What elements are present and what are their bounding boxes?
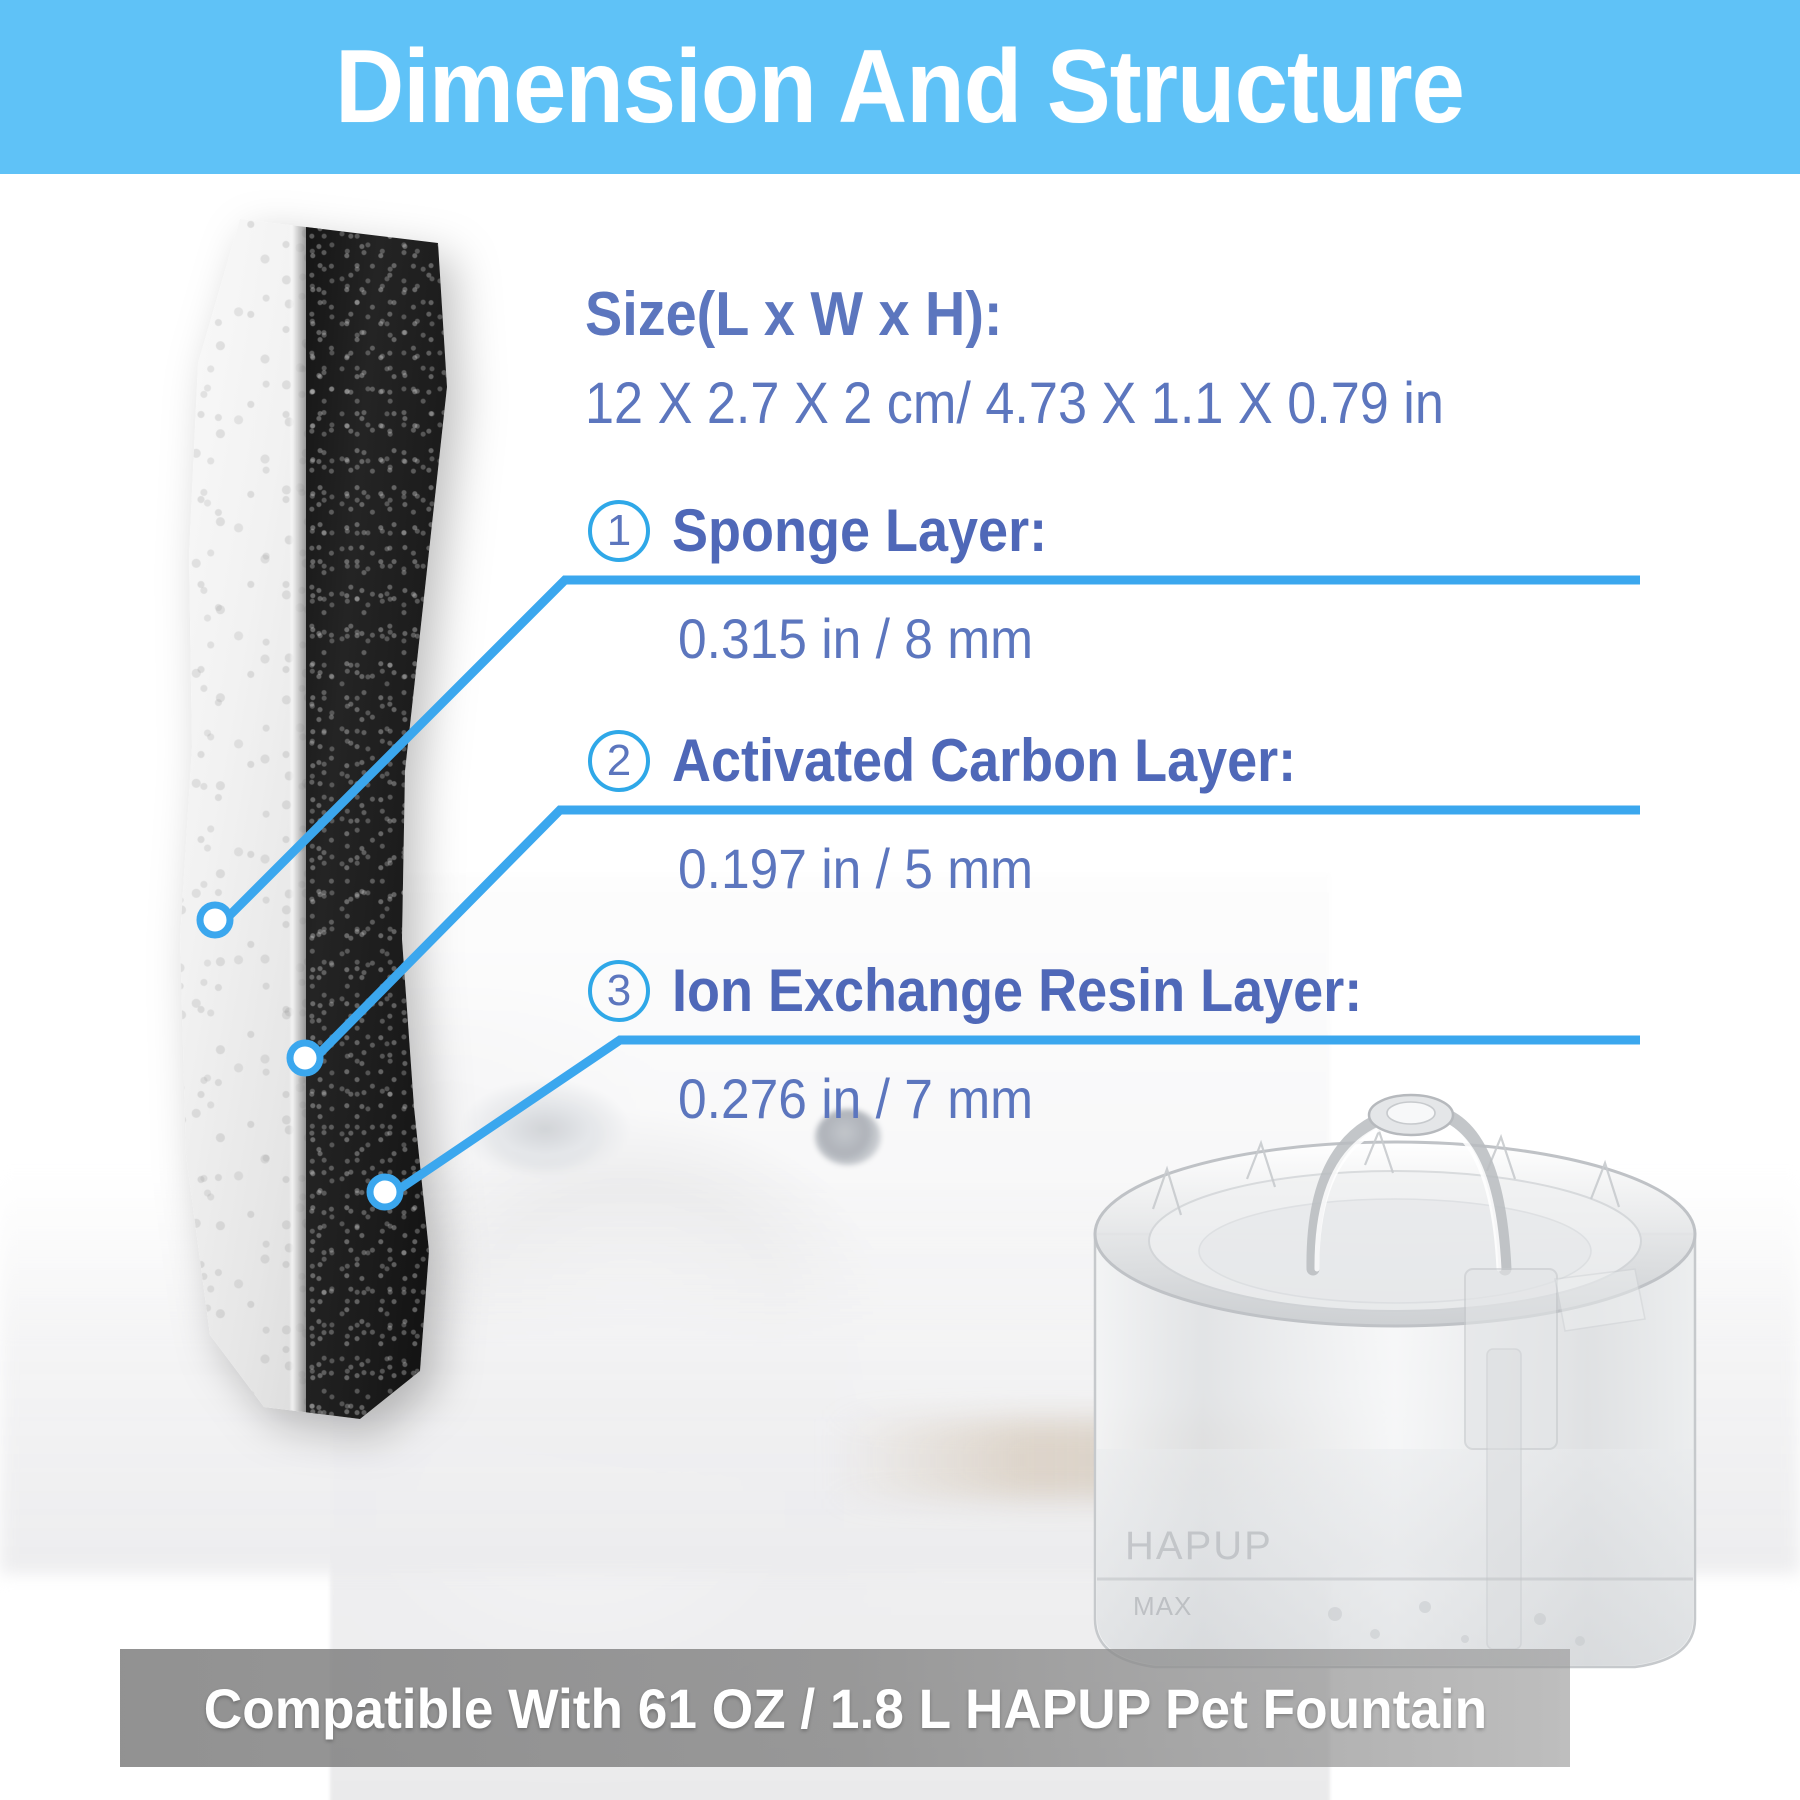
layer-label-3: Ion Exchange Resin Layer: (672, 956, 1362, 1025)
layer-item-3: 3 Ion Exchange Resin Layer: (588, 956, 1439, 1025)
page-title: Dimension And Structure (336, 28, 1465, 147)
header-banner: Dimension And Structure (0, 0, 1800, 174)
layer-number-3: 3 (588, 960, 650, 1022)
sponge-layer-white (150, 219, 306, 1419)
fountain-inner-panel (1555, 1269, 1645, 1331)
fountain-pump-stem (1487, 1349, 1521, 1649)
carbon-layer-black (306, 219, 450, 1419)
fountain-nozzle-hole (1387, 1102, 1435, 1124)
layer-item-1: 1 Sponge Layer: (588, 496, 1089, 565)
layer-value-3: 0.276 in / 7 mm (678, 1066, 1033, 1131)
fountain-svg: HAPUP MAX (1035, 1019, 1775, 1679)
size-label: Size(L x W x H): (585, 279, 1003, 350)
layer-number-1: 1 (588, 500, 650, 562)
pet-fountain-photo: HAPUP MAX (1035, 1019, 1775, 1679)
fountain-max-text: MAX (1133, 1591, 1192, 1621)
filter-cross-section (150, 219, 450, 1419)
compatibility-text: Compatible With 61 OZ / 1.8 L HAPUP Pet … (203, 1676, 1486, 1741)
layer-number-2: 2 (588, 730, 650, 792)
layer-item-2: 2 Activated Carbon Layer: (588, 726, 1366, 795)
compatibility-banner: Compatible With 61 OZ / 1.8 L HAPUP Pet … (120, 1649, 1570, 1767)
layer-label-2: Activated Carbon Layer: (672, 726, 1296, 795)
filter-cartridge-photo (150, 219, 450, 1419)
size-value: 12 X 2.7 X 2 cm/ 4.73 X 1.1 X 0.79 in (585, 370, 1444, 437)
layer-value-1: 0.315 in / 8 mm (678, 606, 1033, 671)
fountain-brand-text: HAPUP (1125, 1524, 1273, 1568)
layer-value-2: 0.197 in / 5 mm (678, 836, 1033, 901)
content-stage: HAPUP MAX Size(L x W x H): 12 X 2.7 X 2 … (0, 174, 1800, 1800)
layer-label-1: Sponge Layer: (672, 496, 1047, 565)
